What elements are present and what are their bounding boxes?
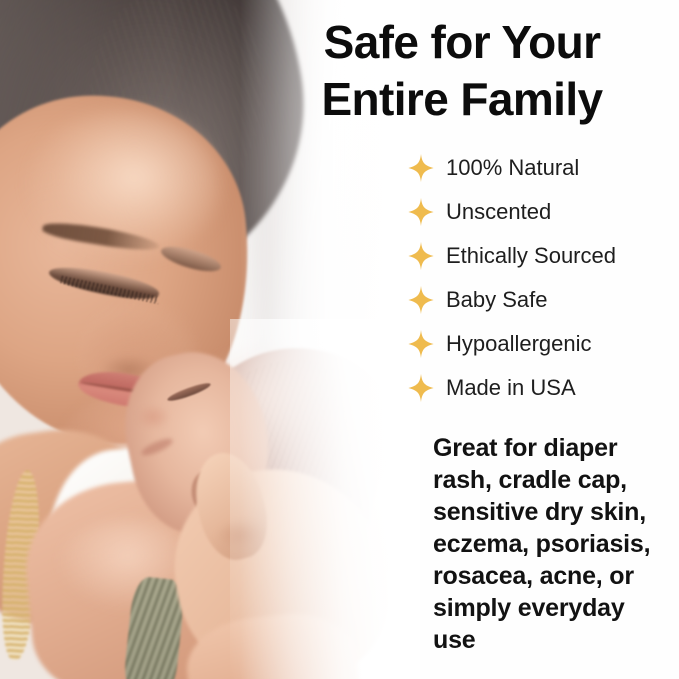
usage-line: Great for diaper [433,432,673,464]
sparkle-star-icon [406,329,436,359]
usage-line: sensitive dry skin, [433,496,673,528]
headline-line-2: Entire Family [262,71,662,128]
sparkle-star-icon [406,285,436,315]
feature-item-made-in-usa: Made in USA [406,366,676,410]
text-content: Safe for Your Entire Family 100% Natural… [0,0,679,679]
feature-item-unscented: Unscented [406,190,676,234]
usage-line: simply everyday [433,592,673,624]
product-feature-panel: Safe for Your Entire Family 100% Natural… [0,0,679,679]
feature-label: Ethically Sourced [446,243,616,269]
feature-item-100-natural: 100% Natural [406,146,676,190]
headline-line-1: Safe for Your [262,14,662,71]
feature-label: Baby Safe [446,287,548,313]
sparkle-star-icon [406,373,436,403]
usage-description: Great for diaper rash, cradle cap, sensi… [433,432,673,656]
feature-item-baby-safe: Baby Safe [406,278,676,322]
usage-line: use [433,624,673,656]
page-title: Safe for Your Entire Family [262,14,662,128]
feature-item-ethically-sourced: Ethically Sourced [406,234,676,278]
feature-list: 100% Natural Unscented Ethically Sourced… [406,146,676,410]
usage-line: eczema, psoriasis, [433,528,673,560]
feature-label: Made in USA [446,375,576,401]
feature-item-hypoallergenic: Hypoallergenic [406,322,676,366]
usage-line: rash, cradle cap, [433,464,673,496]
feature-label: Unscented [446,199,551,225]
sparkle-star-icon [406,153,436,183]
sparkle-star-icon [406,241,436,271]
feature-label: Hypoallergenic [446,331,592,357]
feature-label: 100% Natural [446,155,579,181]
sparkle-star-icon [406,197,436,227]
usage-line: rosacea, acne, or [433,560,673,592]
